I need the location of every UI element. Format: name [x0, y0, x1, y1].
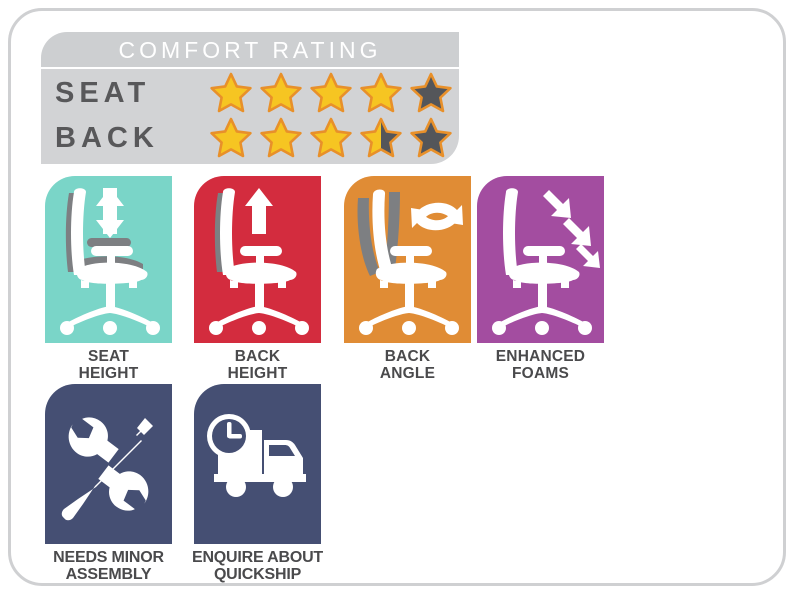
- star-full-icon: [359, 71, 403, 115]
- back-rating-stars: [209, 116, 453, 160]
- comfort-rating-body: SEAT BACK: [41, 69, 459, 164]
- back-angle-art: [344, 176, 471, 343]
- star-full-icon: [309, 116, 353, 160]
- seat-height-label: SEAT HEIGHT: [45, 348, 172, 382]
- product-feature-card: COMFORT RATING SEAT BACK: [8, 8, 786, 586]
- comfort-rating-title: COMFORT RATING: [41, 38, 459, 62]
- feature-tile-back-height[interactable]: BACK HEIGHT: [194, 176, 321, 382]
- enhanced-foams-art: [477, 176, 604, 343]
- seat-rating-stars: [209, 71, 453, 115]
- back-height-label: BACK HEIGHT: [194, 348, 321, 382]
- back-rating-label: BACK: [55, 119, 190, 157]
- feature-tile-enquire-about-quickship[interactable]: ENQUIRE ABOUT QUICKSHIP: [194, 384, 321, 583]
- back-height-art: [194, 176, 321, 343]
- back-rating-row: BACK: [41, 116, 459, 161]
- star-empty-icon: [409, 71, 453, 115]
- quickship-label: ENQUIRE ABOUT QUICKSHIP: [174, 549, 341, 583]
- star-full-icon: [309, 71, 353, 115]
- needs-minor-assembly-art: [45, 384, 172, 544]
- feature-tile-enhanced-foams[interactable]: ENHANCED FOAMS: [477, 176, 604, 382]
- feature-tile-needs-minor-assembly[interactable]: NEEDS MINOR ASSEMBLY: [45, 384, 172, 583]
- comfort-rating-header: COMFORT RATING: [41, 32, 459, 67]
- star-full-icon: [259, 71, 303, 115]
- seat-rating-row: SEAT: [41, 71, 459, 116]
- star-full-icon: [209, 71, 253, 115]
- star-full-icon: [259, 116, 303, 160]
- seat-rating-label: SEAT: [55, 74, 190, 112]
- feature-tile-back-angle[interactable]: BACK ANGLE: [344, 176, 471, 382]
- star-full-icon: [209, 116, 253, 160]
- quickship-art: [194, 384, 321, 544]
- comfort-rating-panel: COMFORT RATING SEAT BACK: [41, 32, 459, 164]
- needs-minor-assembly-label: NEEDS MINOR ASSEMBLY: [25, 549, 192, 583]
- feature-tile-seat-height[interactable]: SEAT HEIGHT: [45, 176, 172, 382]
- seat-height-art: [45, 176, 172, 343]
- star-empty-icon: [409, 116, 453, 160]
- star-half-icon: [359, 116, 403, 160]
- enhanced-foams-label: ENHANCED FOAMS: [477, 348, 604, 382]
- back-angle-label: BACK ANGLE: [344, 348, 471, 382]
